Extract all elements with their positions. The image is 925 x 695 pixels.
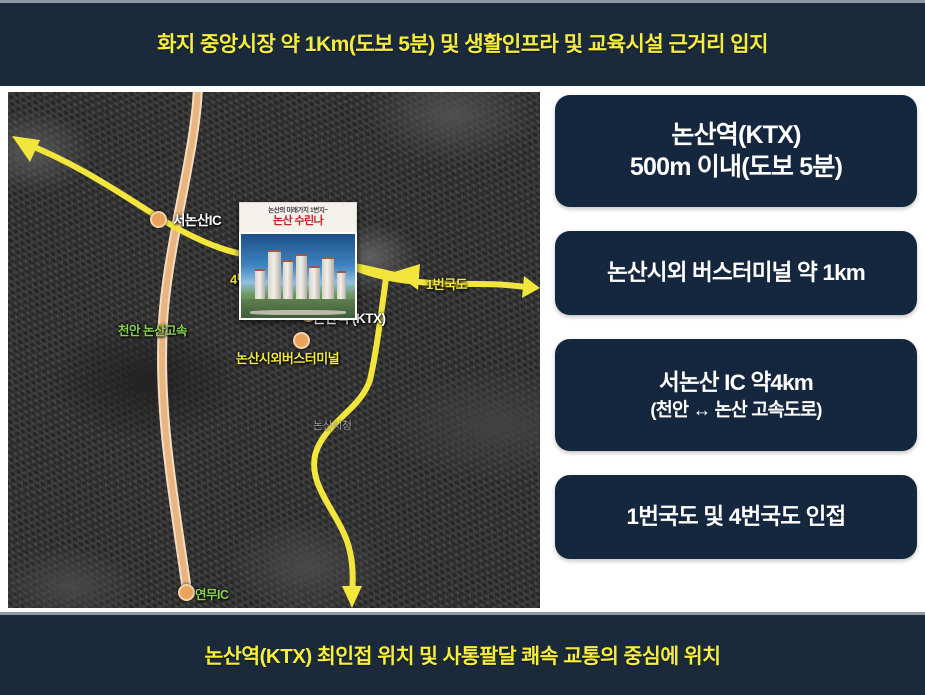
info-box-bus-terminal-line1: 논산시외 버스터미널 약 1km [607, 259, 865, 288]
info-box-bus-terminal[interactable]: 논산시외 버스터미널 약 1km [555, 231, 917, 315]
info-box-seonosan-ic-line1: 서논산 IC 약4km [659, 369, 813, 398]
map-overlay-routes [8, 92, 540, 608]
info-box-national-roads[interactable]: 1번국도 및 4번국도 인접 [555, 475, 917, 559]
map-node-seonosan-ic[interactable] [150, 211, 167, 228]
callout-header: 논산의 미래가치 1번지~ 논산 수린나 [239, 202, 357, 232]
info-box-seonosan-ic[interactable]: 서논산 IC 약4km (천안 ↔ 논산 고속도로) [555, 339, 917, 451]
info-box-ktx-station[interactable]: 논산역(KTX) 500m 이내(도보 5분) [555, 95, 917, 207]
callout-title: 논산 수린나 [244, 215, 352, 229]
info-box-seonosan-ic-line2: (천안 ↔ 논산 고속도로) [650, 398, 821, 422]
map-node-yeonmu-ic[interactable] [178, 584, 195, 601]
callout-rendering-image [239, 232, 357, 320]
header-title: 화지 중앙시장 약 1Km(도보 5분) 및 생활인프라 및 교육시설 근거리 … [157, 28, 768, 58]
info-box-ktx-station-line1: 논산역(KTX) [671, 119, 800, 151]
footer-banner: 논산역(KTX) 최인접 위치 및 사통팔달 쾌속 교통의 중심에 위치 [0, 612, 925, 695]
project-callout[interactable]: 논산의 미래가치 1번지~ 논산 수린나 [239, 202, 357, 320]
footer-title: 논산역(KTX) 최인접 위치 및 사통팔달 쾌속 교통의 중심에 위치 [205, 639, 721, 669]
info-box-ktx-station-line2: 500m 이내(도보 5분) [630, 151, 842, 183]
slide-root: 화지 중앙시장 약 1Km(도보 5분) 및 생활인프라 및 교육시설 근거리 … [0, 0, 925, 695]
header-banner: 화지 중앙시장 약 1Km(도보 5분) 및 생활인프라 및 교육시설 근거리 … [0, 0, 925, 86]
info-box-column: 논산역(KTX) 500m 이내(도보 5분) 논산시외 버스터미널 약 1km… [555, 95, 917, 559]
satellite-map[interactable]: 서논산IC 4번국도 1번국도 논산역 (KTX) 논산시외버스터미널 천안 논… [8, 92, 540, 608]
callout-subtitle: 논산의 미래가치 1번지~ [244, 207, 352, 214]
map-node-bus-terminal[interactable] [293, 332, 310, 349]
info-box-national-roads-line1: 1번국도 및 4번국도 인접 [627, 503, 846, 532]
